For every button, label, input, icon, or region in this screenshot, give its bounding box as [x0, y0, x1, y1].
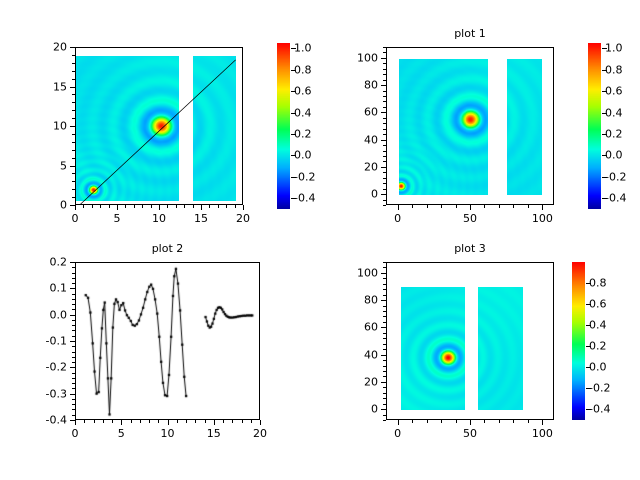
y-axis-minor-tick: [383, 398, 386, 399]
y-axis-minor-tick: [383, 376, 386, 377]
y-axis-tick-label: 100: [336, 266, 378, 279]
x-axis-tick-label: 100: [532, 427, 553, 440]
y-axis-minor-tick: [383, 409, 386, 410]
colorbar-tick-label: -0.4: [589, 403, 610, 416]
y-axis-minor-tick: [383, 420, 386, 421]
y-axis-minor-tick: [383, 267, 386, 268]
heatmap-canvas: [478, 287, 523, 410]
y-axis-minor-tick: [383, 404, 386, 405]
y-axis-minor-tick: [383, 311, 386, 312]
y-axis-minor-tick: [383, 360, 386, 361]
colorbar-tick-label: -0.2: [589, 382, 610, 395]
y-axis-minor-tick: [383, 415, 386, 416]
y-axis-minor-tick: [383, 273, 386, 274]
colorbar-tick-label: 0.4: [589, 319, 607, 332]
y-axis-minor-tick: [383, 289, 386, 290]
x-axis-tick-label: 50: [463, 427, 477, 440]
y-axis-tick-label: 20: [336, 375, 378, 388]
colorbar-tick-label: 0.8: [589, 277, 607, 290]
y-axis-minor-tick: [383, 371, 386, 372]
y-axis-minor-tick: [383, 295, 386, 296]
y-axis-minor-tick: [383, 327, 386, 328]
x-axis-minor-tick: [528, 420, 529, 423]
y-axis-minor-tick: [383, 300, 386, 301]
colorbar-tick-label: 0.2: [589, 340, 607, 353]
y-axis-minor-tick: [383, 355, 386, 356]
y-axis-tick-label: 0: [336, 403, 378, 416]
panel-bottom-right: plot 3-0.4-0.20.00.20.40.60.805010002040…: [0, 0, 640, 480]
y-axis-minor-tick: [383, 306, 386, 307]
x-axis-minor-tick: [499, 420, 500, 423]
y-axis-minor-tick: [383, 382, 386, 383]
x-axis-minor-tick: [484, 420, 485, 423]
y-axis-tick-label: 60: [336, 321, 378, 334]
y-axis-minor-tick: [383, 278, 386, 279]
figure-canvas: -0.4-0.20.00.20.40.60.81.005101520051015…: [0, 0, 640, 480]
x-axis-minor-tick: [542, 420, 543, 423]
colorbar-gradient: [572, 262, 585, 420]
colorbar-tick-label: 0.6: [589, 298, 607, 311]
y-axis-minor-tick: [383, 344, 386, 345]
x-axis-minor-tick: [470, 420, 471, 423]
colorbar-tick-label: 0.0: [589, 361, 607, 374]
axes-frame: [386, 262, 554, 420]
colorbar: [572, 262, 585, 420]
y-axis-tick-label: 40: [336, 348, 378, 361]
y-axis-minor-tick: [383, 349, 386, 350]
y-axis-minor-tick: [383, 322, 386, 323]
y-axis-minor-tick: [383, 262, 386, 263]
y-axis-minor-tick: [383, 284, 386, 285]
x-axis-minor-tick: [427, 420, 428, 423]
heatmap-block: [401, 287, 465, 410]
y-axis-minor-tick: [383, 387, 386, 388]
y-axis-tick-label: 80: [336, 294, 378, 307]
x-axis-tick-label: 0: [394, 427, 401, 440]
plot-title: plot 3: [386, 242, 554, 255]
x-axis-minor-tick: [513, 420, 514, 423]
y-axis-minor-tick: [383, 338, 386, 339]
heatmap-canvas: [401, 287, 465, 410]
y-axis-minor-tick: [383, 393, 386, 394]
y-axis-minor-tick: [383, 333, 386, 334]
y-axis-minor-tick: [383, 316, 386, 317]
y-axis-minor-tick: [383, 366, 386, 367]
x-axis-minor-tick: [456, 420, 457, 423]
x-axis-minor-tick: [441, 420, 442, 423]
x-axis-minor-tick: [412, 420, 413, 423]
heatmap-block: [478, 287, 523, 410]
x-axis-minor-tick: [398, 420, 399, 423]
